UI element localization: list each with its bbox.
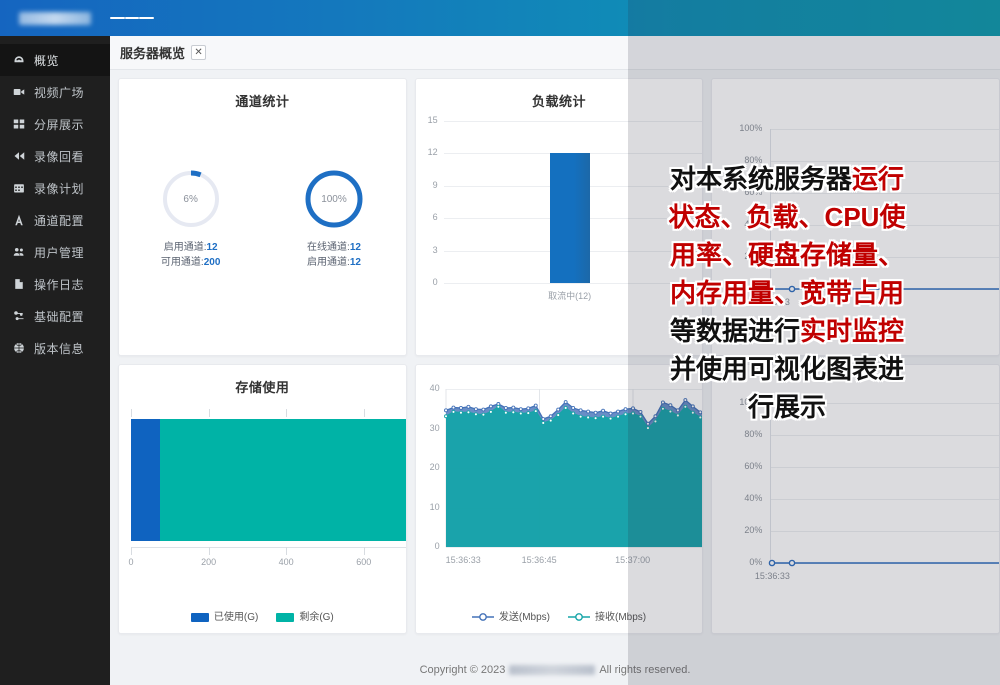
pct-x-tick: 15:36:33 (755, 297, 790, 307)
storage-x-tick: 600 (356, 557, 371, 567)
footer-domain-redacted-icon (509, 665, 595, 675)
bar-x-tick: 取流中(12) (548, 289, 591, 302)
receive-point (609, 417, 612, 420)
card-load-statistics: 负载统计 03691215取流中(12) (415, 78, 704, 356)
send-point (474, 408, 477, 411)
receive-point (601, 415, 604, 418)
storage-tickmark (131, 409, 132, 417)
receive-point (489, 410, 492, 413)
legend-item-send[interactable]: 发送(Mbps) (472, 608, 550, 623)
send-point (459, 406, 462, 409)
gauge-line-label: 可用通道: (161, 257, 204, 268)
sidebar-item-channel-config[interactable]: 通道配置 (0, 204, 110, 236)
storage-x-tick: 200 (201, 557, 216, 567)
hamburger-menu-icon[interactable] (110, 0, 154, 36)
receive-point (511, 411, 514, 414)
receive-point (669, 410, 672, 413)
storage-tickmark (286, 547, 287, 555)
info-icon (10, 342, 28, 354)
receive-point (541, 421, 544, 424)
send-point (519, 408, 522, 411)
receive-point (556, 414, 559, 417)
receive-point (616, 415, 619, 418)
receive-point (631, 412, 634, 415)
send-point (684, 399, 687, 402)
network-legend: 发送(Mbps) 接收(Mbps) (416, 608, 703, 623)
grid-icon (10, 118, 28, 130)
gauge-caption: 启用通道:12 可用通道:200 (121, 240, 261, 270)
channel-icon (10, 214, 28, 226)
send-point (444, 409, 447, 412)
receive-point (526, 412, 529, 415)
receive-point (504, 411, 507, 414)
sidebar-label: 用户管理 (34, 244, 84, 261)
footer-copyright-suffix: All rights reserved. (599, 664, 690, 676)
send-point (452, 406, 455, 409)
card-storage-usage: 存储使用 02004006008001,00 已使用(G) 剩余(G) (118, 364, 407, 634)
gauge-online-channels: 100% 在线通道:12 启用通道:12 (264, 168, 404, 270)
bar-y-tick: 6 (433, 212, 438, 222)
bar-y-tick: 15 (428, 115, 438, 125)
app-logo[interactable] (0, 0, 110, 36)
send-point (669, 404, 672, 407)
send-point (482, 408, 485, 411)
gauge-enabled-channels: 6% 启用通道:12 可用通道:200 (121, 168, 261, 270)
receive-point (444, 415, 447, 418)
sidebar-item-split-view[interactable]: 分屏展示 (0, 108, 110, 140)
gauge-line-value: 12 (350, 257, 361, 268)
calendar-icon (10, 182, 28, 194)
send-point (654, 415, 657, 418)
legend-item-free[interactable]: 剩余(G) (276, 608, 333, 623)
send-point (616, 410, 619, 413)
sidebar-label: 概览 (34, 52, 59, 69)
receive-point (571, 412, 574, 415)
receive-point (586, 416, 589, 419)
tab-label: 服务器概览 (120, 43, 185, 62)
send-point (511, 406, 514, 409)
gauge-line-label: 启用通道: (307, 257, 350, 268)
sidebar-label: 版本信息 (34, 340, 84, 357)
donut-6-percent: 6% (160, 168, 222, 230)
send-point (624, 408, 627, 411)
bar-load-in-stream[interactable] (550, 153, 590, 283)
area-x-tick: 15:36:45 (522, 555, 557, 565)
storage-x-tick: 400 (279, 557, 294, 567)
send-point (526, 407, 529, 410)
legend-swatch (276, 613, 294, 622)
gauge-line-label: 启用通道: (164, 242, 207, 253)
line-chart-cpu: 0%20%40%60%80%100%15:36:33 (712, 99, 1000, 339)
sidebar-label: 基础配置 (34, 308, 84, 325)
sidebar-label: 录像计划 (34, 180, 84, 197)
legend-label: 发送(Mbps) (499, 612, 550, 623)
receive-point (661, 407, 664, 410)
receive-point (534, 410, 537, 413)
rewind-icon (10, 150, 28, 162)
sidebar-item-overview[interactable]: 概览 (0, 44, 110, 76)
send-point (639, 410, 642, 413)
receive-point (474, 413, 477, 416)
bar-y-tick: 3 (433, 245, 438, 255)
gauge-line-value: 12 (206, 242, 217, 253)
storage-stacked-bar[interactable] (131, 419, 407, 541)
area-chart-network: 01020304015:36:3315:36:4515:37:0015:37:1… (416, 379, 704, 589)
gauge-line-label: 在线通道: (307, 242, 350, 253)
send-point (594, 411, 597, 414)
gauge-caption: 在线通道:12 启用通道:12 (264, 240, 404, 270)
receive-point (579, 415, 582, 418)
receive-point (482, 413, 485, 416)
receive-point (519, 412, 522, 415)
card-title: 通道统计 (119, 79, 406, 110)
footer: Copyright © 2023 All rights reserved. (110, 655, 1000, 685)
send-point (646, 422, 649, 425)
send-point (467, 405, 470, 408)
sidebar-label: 视频广场 (34, 84, 84, 101)
sidebar-item-basic-config[interactable]: 基础配置 (0, 300, 110, 332)
send-point (579, 409, 582, 412)
sidebar-item-user-management[interactable]: 用户管理 (0, 236, 110, 268)
donut-percent-label: 100% (303, 168, 365, 230)
send-point (691, 405, 694, 408)
send-point (571, 406, 574, 409)
sidebar: 概览 视频广场 分屏展示 录像回看 录像计划 (0, 36, 110, 685)
donut-100-percent: 100% (303, 168, 365, 230)
receive-point (676, 414, 679, 417)
settings-icon (10, 310, 28, 322)
send-point (631, 407, 634, 410)
legend-label: 接收(Mbps) (595, 612, 646, 623)
users-icon (10, 246, 28, 258)
dashboard-icon (10, 54, 28, 66)
storage-tickmark (364, 547, 365, 555)
receive-point (549, 419, 552, 422)
send-point (541, 418, 544, 421)
send-point (504, 406, 507, 409)
receive-point (691, 411, 694, 414)
send-point (564, 401, 567, 404)
bar-chart-storage: 02004006008001,00 (119, 397, 407, 592)
card-title: 负载统计 (416, 79, 703, 110)
receive-point (594, 417, 597, 420)
receive-point (452, 410, 455, 413)
card-network-bandwidth: 01020304015:36:3315:36:4515:37:0015:37:1… (415, 364, 704, 634)
storage-tickmark (209, 409, 210, 417)
send-point (676, 409, 679, 412)
area-x-tick: 15:36:33 (446, 555, 481, 565)
gauge-group: 6% 启用通道:12 可用通道:200 (119, 168, 406, 270)
storage-x-tick: 0 (128, 557, 133, 567)
app-root: 概览 视频广场 分屏展示 录像回看 录像计划 (0, 0, 1000, 685)
bar-y-tick: 9 (433, 180, 438, 190)
storage-legend: 已使用(G) 剩余(G) (119, 608, 406, 623)
dashboard-row-2: 存储使用 02004006008001,00 已使用(G) 剩余(G) 0102… (118, 364, 1000, 634)
bar-gridline (444, 283, 704, 284)
send-point (534, 404, 537, 407)
document-icon (10, 278, 28, 290)
sidebar-item-playback[interactable]: 录像回看 (0, 140, 110, 172)
dashboard-content: 通道统计 6% 启用通道:12 可用通道:200 (110, 70, 1000, 655)
legend-label: 已使用(G) (214, 612, 258, 623)
gauge-line-value: 200 (204, 257, 221, 268)
receive-point (564, 406, 567, 409)
sidebar-item-version-info[interactable]: 版本信息 (0, 332, 110, 364)
legend-item-receive[interactable]: 接收(Mbps) (568, 608, 646, 623)
line-chart-memory: 0%20%40%60%80%100%15:36:33 (712, 379, 1000, 611)
sidebar-item-record-plan[interactable]: 录像计划 (0, 172, 110, 204)
storage-segment-used[interactable] (131, 419, 160, 541)
donut-percent-label: 6% (160, 168, 222, 230)
tab-close-icon[interactable]: ✕ (191, 45, 206, 60)
receive-point (684, 405, 687, 408)
sidebar-label: 操作日志 (34, 276, 84, 293)
send-point (586, 410, 589, 413)
tab-bar: 服务器概览 ✕ (110, 36, 1000, 70)
sidebar-item-video-wall[interactable]: 视频广场 (0, 76, 110, 108)
area-x-tick: 15:37:00 (615, 555, 650, 565)
send-point (489, 405, 492, 408)
sidebar-item-operation-log[interactable]: 操作日志 (0, 268, 110, 300)
receive-point (654, 420, 657, 423)
sidebar-label: 通道配置 (34, 212, 84, 229)
storage-tickmark (364, 409, 365, 417)
storage-tickmark (209, 547, 210, 555)
legend-swatch (191, 613, 209, 622)
storage-axis-line (131, 547, 407, 548)
receive-point (467, 411, 470, 414)
legend-label: 剩余(G) (299, 612, 333, 623)
sidebar-label: 分屏展示 (34, 116, 84, 133)
footer-copyright-prefix: Copyright © 2023 (420, 664, 506, 676)
receive-point (698, 416, 701, 419)
storage-tickmark (286, 409, 287, 417)
logo-redacted-icon (19, 12, 91, 25)
receive-area (446, 403, 704, 547)
send-point (556, 408, 559, 411)
pct-line-svg (712, 379, 1000, 583)
legend-line-marker-icon (472, 612, 494, 622)
dashboard-row-1: 通道统计 6% 启用通道:12 可用通道:200 (118, 78, 1000, 356)
bar-gridline (444, 121, 704, 122)
card-cpu-usage: 0%20%40%60%80%100%15:36:33 (711, 78, 1000, 356)
receive-point (459, 411, 462, 414)
receive-point (497, 405, 500, 408)
network-area-svg (416, 379, 704, 579)
sidebar-label: 录像回看 (34, 148, 84, 165)
card-channel-statistics: 通道统计 6% 启用通道:12 可用通道:200 (118, 78, 407, 356)
top-header (0, 0, 1000, 36)
receive-point (646, 427, 649, 430)
card-memory-usage: 0%20%40%60%80%100%15:36:33 (711, 364, 1000, 634)
send-point (609, 412, 612, 415)
pct-x-tick: 15:36:33 (755, 571, 790, 581)
tab-server-overview[interactable]: 服务器概览 ✕ (120, 43, 206, 62)
bar-chart-load: 03691215取流中(12) (416, 113, 704, 318)
pct-line-svg (712, 99, 1000, 309)
gauge-line-value: 12 (350, 242, 361, 253)
storage-segment-free[interactable] (160, 419, 407, 541)
send-point (698, 411, 701, 414)
bar-y-tick: 12 (428, 147, 438, 157)
send-point (661, 401, 664, 404)
receive-point (639, 415, 642, 418)
card-title: 存储使用 (119, 365, 406, 396)
legend-line-marker-icon (568, 612, 590, 622)
send-point (601, 409, 604, 412)
bar-y-tick: 0 (433, 277, 438, 287)
send-point (549, 415, 552, 418)
receive-point (624, 413, 627, 416)
video-icon (10, 86, 28, 98)
legend-item-used[interactable]: 已使用(G) (191, 608, 258, 623)
storage-tickmark (131, 547, 132, 555)
